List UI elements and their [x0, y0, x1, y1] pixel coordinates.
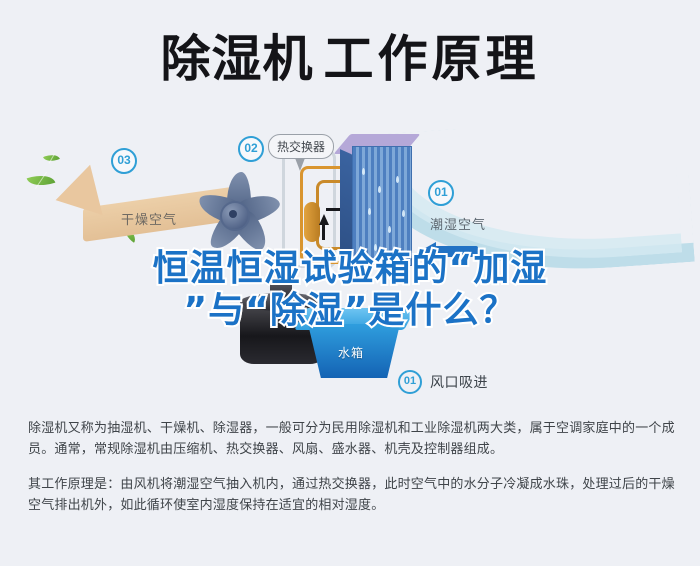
step-text: 风口吸进 [430, 372, 488, 392]
heat-exchanger-illustration [352, 146, 418, 268]
dehumidifier-diagram: 干燥空气 03 [0, 118, 700, 403]
step-number: 01 [398, 370, 422, 394]
water-tank-illustration: 水箱 [300, 308, 410, 382]
heat-exchanger-callout: 热交换器 [268, 134, 334, 159]
water-tank-label: 水箱 [338, 344, 364, 361]
intake-arrow-head [420, 242, 436, 260]
step-list: 01 风口吸进 02 器冷凝成水珠 03 从上部出风口吹出清新干爽空气 [398, 370, 688, 403]
dry-air-arrow-head [49, 165, 102, 226]
intake-arrow [420, 242, 478, 260]
infographic-page: 除湿机工作原理 干燥空气 03 [0, 0, 700, 566]
heat-exchanger-fins [352, 146, 412, 266]
body-copy: 除湿机又称为抽湿机、干燥机、除湿器，一般可分为民用除湿机和工业除湿机两大类，属于… [28, 418, 678, 530]
compressor-neck [270, 280, 292, 298]
intake-arrow-shaft [434, 246, 478, 257]
badge-01-humid-air: 01 [428, 180, 454, 206]
body-paragraph-1: 除湿机又称为抽湿机、干燥机、除湿器，一般可分为民用除湿机和工业除湿机两大类，属于… [28, 418, 678, 460]
body-paragraph-2: 其工作原理是：由风机将潮湿空气抽入机内，通过热交换器，此时空气中的水分子冷凝成水… [28, 474, 678, 516]
badge-03-dry-air: 03 [111, 148, 137, 174]
dry-air-label: 干燥空气 [121, 209, 177, 228]
badge-02-heat-exchanger: 02 [238, 136, 264, 162]
page-title-part1: 除湿机 [161, 28, 314, 90]
list-item: 01 风口吸进 [398, 370, 688, 394]
coil-cylinder [304, 202, 320, 242]
fan-illustration [185, 166, 281, 262]
page-title: 除湿机工作原理 [0, 28, 700, 90]
flow-arrow-up-icon [319, 214, 329, 225]
flow-arrow-stem [322, 224, 325, 240]
fan-hub [220, 201, 250, 231]
humid-air-label: 潮湿空气 [430, 214, 486, 233]
page-title-part2: 工作原理 [324, 28, 540, 90]
